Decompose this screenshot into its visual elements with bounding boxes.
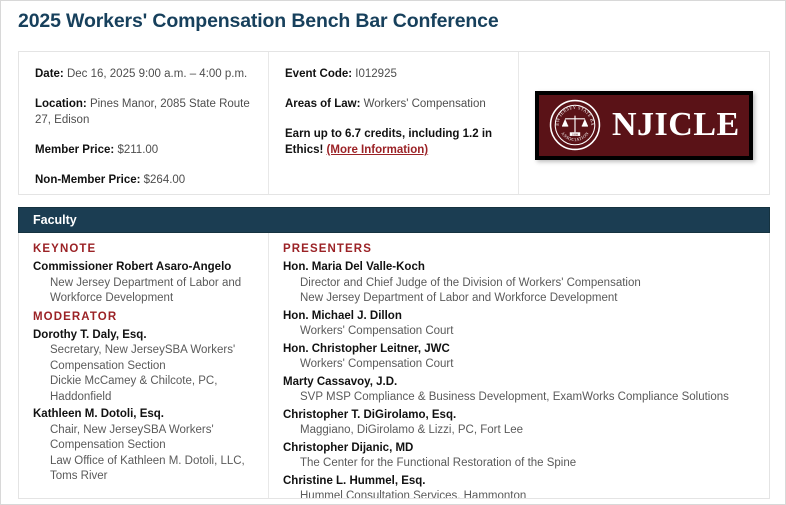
faculty-person-name: Dorothy T. Daly, Esq. — [33, 328, 256, 344]
faculty-section-body: KEYNOTECommissioner Robert Asaro-AngeloN… — [18, 233, 770, 499]
faculty-person-detail: Dickie McCamey & Chilcote, PC, Haddonfie… — [33, 374, 256, 405]
event-location-label: Location: — [35, 98, 87, 110]
seal-year-text: 1899 — [572, 132, 579, 136]
member-price-value: $211.00 — [114, 144, 158, 156]
member-price-row: Member Price: $211.00 — [35, 142, 252, 158]
faculty-person-detail: Director and Chief Judge of the Division… — [283, 276, 757, 292]
event-code-value: I012925 — [352, 68, 397, 80]
faculty-section-header: Faculty — [18, 207, 770, 233]
non-member-price-label: Non-Member Price: — [35, 174, 140, 186]
event-info-column-logistics: Date: Dec 16, 2025 9:00 a.m. – 4:00 p.m.… — [19, 52, 269, 194]
areas-of-law-value: Workers' Compensation — [360, 98, 485, 110]
faculty-person-detail: Secretary, New JerseySBA Workers' Compen… — [33, 343, 256, 374]
areas-of-law-row: Areas of Law: Workers' Compensation — [285, 96, 502, 112]
faculty-column-left: KEYNOTECommissioner Robert Asaro-AngeloN… — [19, 233, 269, 498]
event-info-column-details: Event Code: I012925 Areas of Law: Worker… — [269, 52, 519, 194]
faculty-person-detail: New Jersey Department of Labor and Workf… — [33, 276, 256, 307]
event-location-row: Location: Pines Manor, 2085 State Route … — [35, 96, 252, 128]
faculty-person-name: Christopher T. DiGirolamo, Esq. — [283, 408, 757, 424]
credits-row: Earn up to 6.7 credits, including 1.2 in… — [285, 126, 502, 158]
faculty-person-detail: Chair, New JerseySBA Workers' Compensati… — [33, 423, 256, 454]
faculty-section-title: Faculty — [33, 213, 77, 227]
event-detail-page: 2025 Workers' Compensation Bench Bar Con… — [0, 0, 786, 505]
faculty-person-name: Hon. Maria Del Valle-Koch — [283, 260, 757, 276]
event-code-row: Event Code: I012925 — [285, 66, 502, 82]
faculty-person-detail: Maggiano, DiGirolamo & Lizzi, PC, Fort L… — [283, 423, 757, 439]
event-date-label: Date: — [35, 68, 64, 80]
njsba-seal-icon: NEW JERSEY STATE BAR ASSOCIATION — [549, 99, 601, 151]
non-member-price-row: Non-Member Price: $264.00 — [35, 172, 252, 188]
faculty-person-name: Christine L. Hummel, Esq. — [283, 474, 757, 490]
faculty-person-detail: Workers' Compensation Court — [283, 324, 757, 340]
faculty-group-heading: KEYNOTE — [33, 243, 256, 255]
event-info-column-logo: NEW JERSEY STATE BAR ASSOCIATION — [519, 52, 769, 194]
njicle-logo: NEW JERSEY STATE BAR ASSOCIATION — [535, 91, 753, 160]
faculty-person-detail: Hummel Consultation Services, Hammonton — [283, 489, 757, 499]
faculty-person-detail: Workers' Compensation Court — [283, 357, 757, 373]
faculty-person-name: Marty Cassavoy, J.D. — [283, 375, 757, 391]
areas-of-law-label: Areas of Law: — [285, 98, 360, 110]
faculty-person-name: Hon. Christopher Leitner, JWC — [283, 342, 757, 358]
faculty-column-right: PRESENTERSHon. Maria Del Valle-KochDirec… — [269, 233, 769, 498]
faculty-person-detail: New Jersey Department of Labor and Workf… — [283, 291, 757, 307]
faculty-person-detail: The Center for the Functional Restoratio… — [283, 456, 757, 472]
event-code-label: Event Code: — [285, 68, 352, 80]
event-date-row: Date: Dec 16, 2025 9:00 a.m. – 4:00 p.m. — [35, 66, 252, 82]
faculty-person-name: Kathleen M. Dotoli, Esq. — [33, 407, 256, 423]
faculty-person-name: Hon. Michael J. Dillon — [283, 309, 757, 325]
member-price-label: Member Price: — [35, 144, 114, 156]
non-member-price-value: $264.00 — [140, 174, 185, 186]
faculty-person-detail: Law Office of Kathleen M. Dotoli, LLC, T… — [33, 454, 256, 485]
faculty-person-name: Commissioner Robert Asaro-Angelo — [33, 260, 256, 276]
njicle-wordmark: NJICLE — [612, 108, 740, 142]
more-information-link[interactable]: (More Information) — [327, 144, 429, 156]
faculty-person-name: Christopher Dijanic, MD — [283, 441, 757, 457]
faculty-group-heading: MODERATOR — [33, 311, 256, 323]
faculty-group-heading: PRESENTERS — [283, 243, 757, 255]
event-date-value: Dec 16, 2025 9:00 a.m. – 4:00 p.m. — [64, 68, 247, 80]
page-title: 2025 Workers' Compensation Bench Bar Con… — [18, 10, 499, 33]
event-info-card: Date: Dec 16, 2025 9:00 a.m. – 4:00 p.m.… — [18, 51, 770, 195]
faculty-person-detail: SVP MSP Compliance & Business Developmen… — [283, 390, 757, 406]
